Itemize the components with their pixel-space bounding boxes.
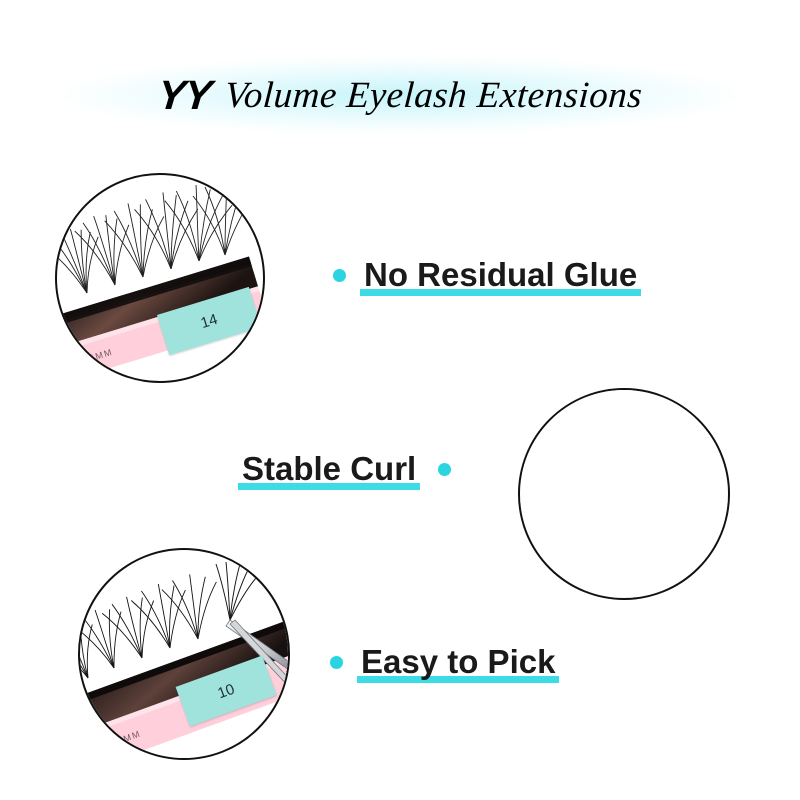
brand-logo: YY [156, 75, 213, 116]
lash-fans-illustration: 14MM [57, 175, 265, 383]
page-title: Volume Eyelash Extensions [223, 77, 643, 114]
picked-fan [216, 562, 256, 620]
bullet-icon [333, 269, 346, 282]
photo-easy-pick-10mm: 10MM [78, 548, 290, 760]
poster-canvas: YY Volume Eyelash Extensions [0, 0, 800, 800]
feature-stable-curl: Stable Curl [238, 452, 451, 487]
bullet-icon [438, 463, 451, 476]
easy-pick-illustration: 10MM [80, 550, 290, 760]
header-banner: YY Volume Eyelash Extensions [0, 55, 800, 135]
photo-volume-fans-14mm: 14MM [55, 173, 265, 383]
photo-stable-curl-lashes [518, 388, 730, 600]
feature-label-no-residual-glue: No Residual Glue [360, 258, 641, 293]
feature-easy-to-pick: Easy to Pick [330, 645, 559, 680]
feature-label-easy-to-pick: Easy to Pick [357, 645, 559, 680]
bullet-icon [330, 656, 343, 669]
feature-label-stable-curl: Stable Curl [238, 452, 420, 487]
size-tab-label: 10 [215, 680, 236, 702]
size-tab-label: 14 [199, 310, 220, 331]
feature-no-residual-glue: No Residual Glue [333, 258, 641, 293]
